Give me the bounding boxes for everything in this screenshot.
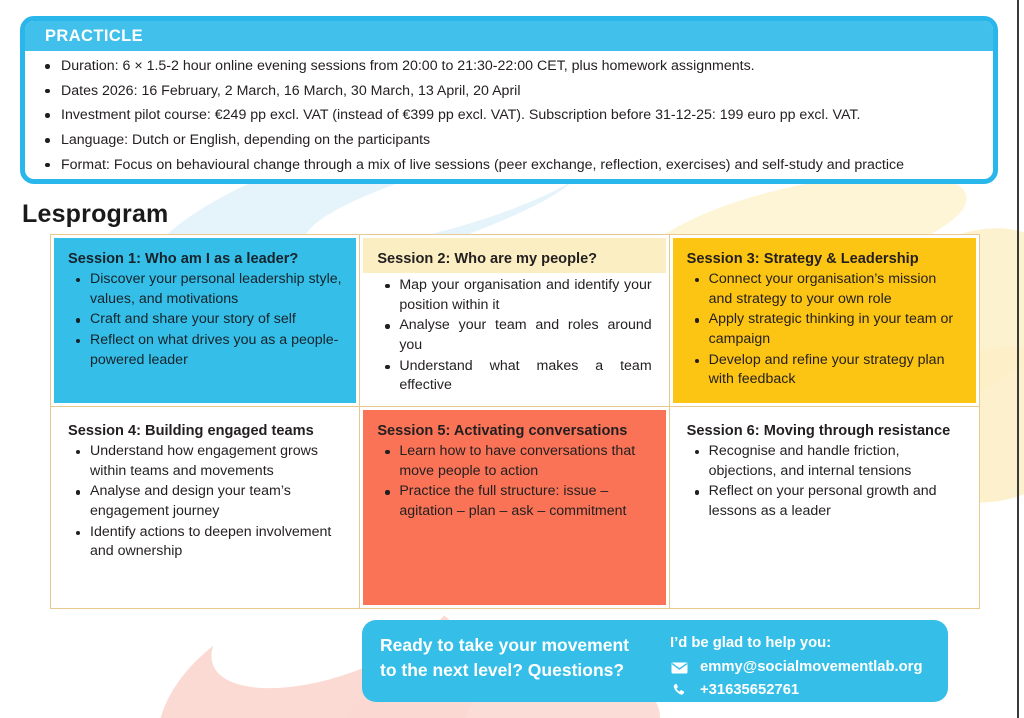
session-title: Session 4: Building engaged teams: [68, 422, 342, 440]
list-item: Understand what makes a team effective: [377, 357, 651, 396]
session-title: Session 1: Who am I as a leader?: [68, 250, 342, 268]
cta-email-row[interactable]: emmy@socialmovementlab.org: [670, 657, 930, 678]
cta-headline-line-2: to the next level? Questions?: [380, 658, 670, 683]
session-title: Session 5: Activating conversations: [377, 422, 651, 440]
practical-info-box: PRACTICLE Duration: 6 × 1.5-2 hour onlin…: [20, 16, 998, 184]
list-item: Reflect on what drives you as a people-p…: [68, 331, 342, 370]
cta-contact-block: I’d be glad to help you: emmy@socialmove…: [670, 633, 930, 692]
cta-headline-line-1: Ready to take your movement: [380, 633, 670, 658]
session-grid: Session 1: Who am I as a leader? Discove…: [50, 234, 980, 609]
session-card-2-body: Map your organisation and identify your …: [363, 273, 665, 403]
cta-phone-row[interactable]: +31635652761: [670, 680, 930, 701]
list-item: Reflect on your personal growth and less…: [687, 482, 962, 521]
session-bullets: Map your organisation and identify your …: [377, 276, 651, 396]
session-card-2: Session 2: Who are my people? Map your o…: [363, 238, 665, 403]
practical-info-body: Duration: 6 × 1.5-2 hour online evening …: [25, 51, 993, 175]
session-card-6: Session 6: Moving through resistance Rec…: [673, 410, 976, 605]
slide-canvas: PRACTICLE Duration: 6 × 1.5-2 hour onlin…: [0, 0, 1024, 718]
cta-headline: Ready to take your movement to the next …: [380, 633, 670, 692]
session-bullets: Connect your organisation’s mission and …: [687, 270, 962, 390]
envelope-icon: [670, 662, 688, 674]
list-item: Investment pilot course: €249 pp excl. V…: [39, 106, 979, 125]
list-item: Dates 2026: 16 February, 2 March, 16 Mar…: [39, 82, 979, 101]
session-bullets: Learn how to have conversations that mov…: [377, 442, 651, 521]
session-card-1: Session 1: Who am I as a leader? Discove…: [54, 238, 356, 403]
list-item: Recognise and handle friction, objection…: [687, 442, 962, 481]
list-item: Discover your personal leadership style,…: [68, 270, 342, 309]
list-item: Apply strategic thinking in your team or…: [687, 310, 962, 349]
session-title: Session 3: Strategy & Leadership: [687, 250, 962, 268]
list-item: Learn how to have conversations that mov…: [377, 442, 651, 481]
session-cell-1: Session 1: Who am I as a leader? Discove…: [51, 235, 360, 407]
session-card-4: Session 4: Building engaged teams Unders…: [54, 410, 356, 605]
list-item: Identify actions to deepen involvement a…: [68, 523, 342, 562]
session-bullets: Recognise and handle friction, objection…: [687, 442, 962, 521]
cta-help-text: I’d be glad to help you:: [670, 633, 930, 654]
session-card-5: Session 5: Activating conversations Lear…: [363, 410, 665, 605]
session-cell-6: Session 6: Moving through resistance Rec…: [670, 407, 979, 608]
cta-email-text[interactable]: emmy@socialmovementlab.org: [700, 657, 922, 678]
list-item: Develop and refine your strategy plan wi…: [687, 351, 962, 390]
session-card-3: Session 3: Strategy & Leadership Connect…: [673, 238, 976, 403]
session-title: Session 6: Moving through resistance: [687, 422, 962, 440]
list-item: Analyse and design your team’s engagemen…: [68, 482, 342, 521]
session-card-2-header: Session 2: Who are my people?: [363, 238, 665, 273]
practical-info-header: PRACTICLE: [25, 21, 993, 51]
session-title: Session 2: Who are my people?: [377, 250, 651, 268]
list-item: Craft and share your story of self: [68, 310, 342, 330]
practical-info-list: Duration: 6 × 1.5-2 hour online evening …: [39, 57, 979, 175]
session-cell-5: Session 5: Activating conversations Lear…: [360, 407, 669, 608]
practical-info-title: PRACTICLE: [45, 27, 143, 46]
phone-icon: [670, 683, 688, 698]
cta-phone-text[interactable]: +31635652761: [700, 680, 799, 701]
page-title: Lesprogram: [22, 200, 168, 229]
list-item: Understand how engagement grows within t…: [68, 442, 342, 481]
session-cell-2: Session 2: Who are my people? Map your o…: [360, 235, 669, 407]
list-item: Duration: 6 × 1.5-2 hour online evening …: [39, 57, 979, 76]
list-item: Format: Focus on behavioural change thro…: [39, 156, 979, 175]
session-cell-3: Session 3: Strategy & Leadership Connect…: [670, 235, 979, 407]
list-item: Connect your organisation’s mission and …: [687, 270, 962, 309]
list-item: Practice the full structure: issue – agi…: [377, 482, 651, 521]
list-item: Analyse your team and roles around you: [377, 316, 651, 355]
slide-right-edge: [1017, 0, 1019, 718]
session-bullets: Understand how engagement grows within t…: [68, 442, 342, 562]
session-cell-4: Session 4: Building engaged teams Unders…: [51, 407, 360, 608]
list-item: Map your organisation and identify your …: [377, 276, 651, 315]
contact-cta-banner: Ready to take your movement to the next …: [362, 620, 948, 702]
session-bullets: Discover your personal leadership style,…: [68, 270, 342, 370]
list-item: Language: Dutch or English, depending on…: [39, 131, 979, 150]
